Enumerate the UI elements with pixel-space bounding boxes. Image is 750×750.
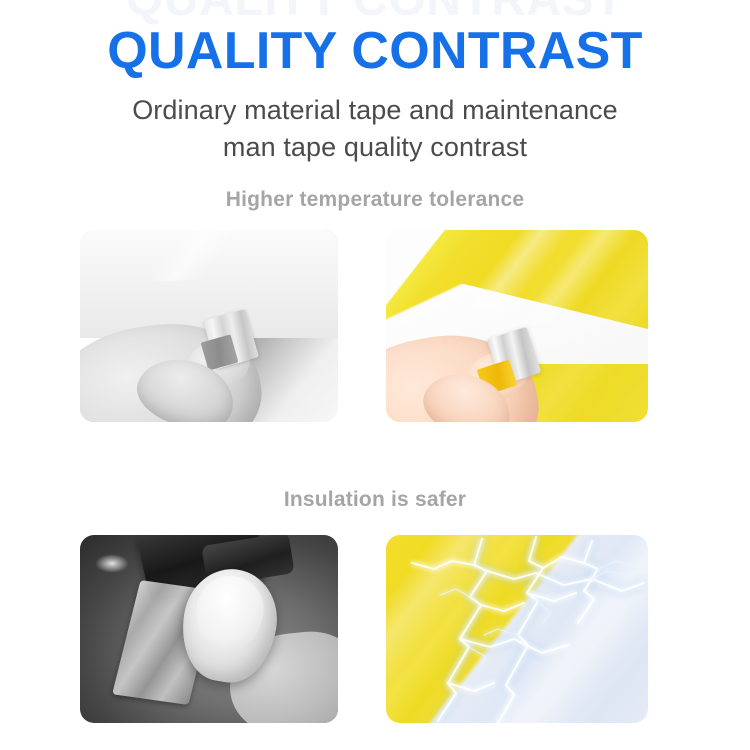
page-subtitle-line-2: man tape quality contrast [0, 129, 750, 166]
section-title-temperature: Higher temperature tolerance [0, 188, 750, 212]
photo-ordinary-tape-insulation [80, 535, 338, 723]
panel-ordinary-tape-temperature [80, 230, 338, 422]
photo-maintenance-tape-temperature [386, 230, 648, 422]
page-title: QUALITY CONTRAST [0, 22, 750, 80]
electric-arc-icon [386, 535, 648, 723]
surface-highlight [80, 230, 338, 283]
photo-maintenance-tape-insulation [386, 535, 648, 723]
tape-highlight-secondary [386, 230, 648, 326]
panel-ordinary-tape-insulation [80, 535, 338, 723]
page-subtitle: Ordinary material tape and maintenance m… [0, 92, 750, 166]
product-detail-page: QUALITY CONTRAST QUALITY CONTRAST Ordina… [0, 0, 750, 750]
page-subtitle-line-1: Ordinary material tape and maintenance [0, 92, 750, 129]
photo-ordinary-tape-temperature [80, 230, 338, 422]
section-title-insulation: Insulation is safer [0, 488, 750, 512]
panel-maintenance-tape-temperature [386, 230, 648, 422]
panel-maintenance-tape-insulation [386, 535, 648, 723]
specular-highlight [95, 554, 129, 573]
